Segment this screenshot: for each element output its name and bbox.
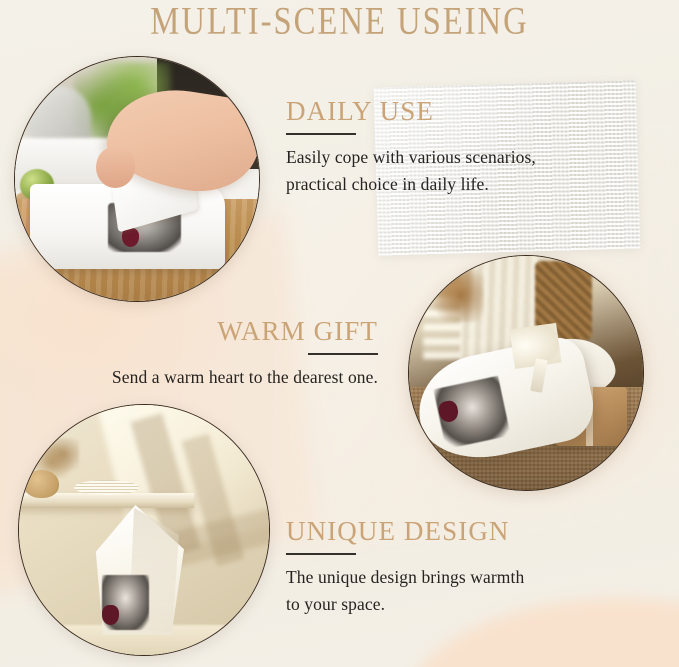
- daily-use-scene: [15, 57, 259, 301]
- feature-body-unique-design: The unique design brings warmth to your …: [286, 564, 524, 618]
- feature-heading-warm-gift: WARM GIFT: [30, 316, 378, 346]
- unique-design-scene: [19, 405, 269, 655]
- feature-body-line: Send a warm heart to the dearest one.: [30, 364, 378, 391]
- heading-underline-rule: [308, 353, 378, 355]
- warm-gift-scene: [409, 256, 643, 490]
- dried-flowers: [423, 256, 484, 322]
- heading-underline-rule: [286, 133, 356, 135]
- feature-text-daily-use: DAILY USE Easily cope with various scena…: [286, 96, 536, 198]
- feature-text-unique-design: UNIQUE DESIGN The unique design brings w…: [286, 516, 524, 618]
- ceramic-vase: [24, 470, 59, 498]
- feature-heading-unique-design: UNIQUE DESIGN: [286, 516, 524, 546]
- feature-body-warm-gift: Send a warm heart to the dearest one.: [30, 364, 378, 391]
- photo-circle-unique-design: [18, 404, 270, 656]
- stacked-plates: [74, 480, 139, 495]
- feature-body-line: to your space.: [286, 591, 524, 618]
- feature-body-line: The unique design brings warmth: [286, 564, 524, 591]
- feature-body-line: Easily cope with various scenarios,: [286, 144, 536, 171]
- feature-body-daily-use: Easily cope with various scenarios, prac…: [286, 144, 536, 198]
- feature-text-warm-gift: WARM GIFT Send a warm heart to the deare…: [30, 316, 378, 391]
- heading-underline-rule: [286, 553, 356, 555]
- feature-body-line: practical choice in daily life.: [286, 171, 536, 198]
- photo-circle-warm-gift: [408, 255, 644, 491]
- photo-circle-daily-use: [14, 56, 260, 302]
- wine-glass-graphic: [102, 605, 120, 625]
- feature-heading-daily-use: DAILY USE: [286, 96, 536, 126]
- page-title: MULTI-SCENE USEING: [3, 0, 675, 45]
- product-infographic-poster: MULTI-SCENE USEING: [0, 0, 679, 667]
